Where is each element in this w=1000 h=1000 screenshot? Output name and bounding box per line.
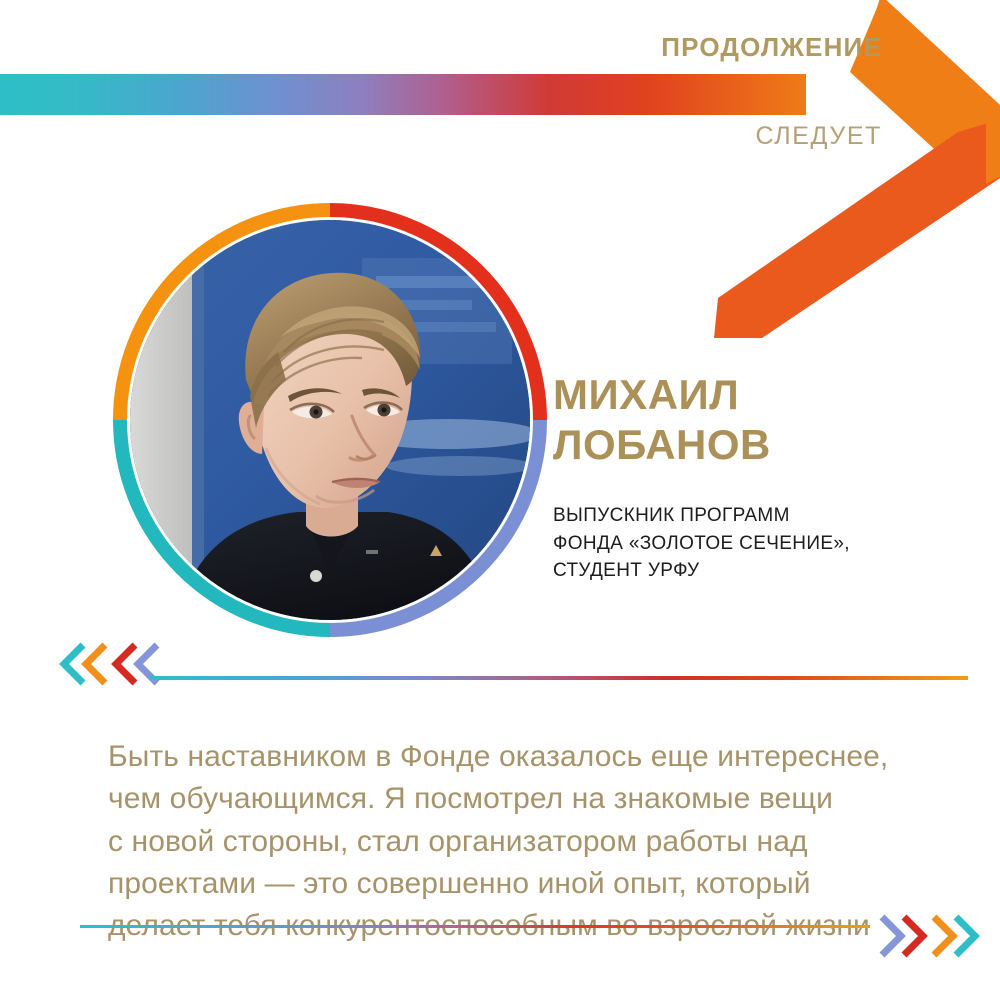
divider-top	[150, 676, 968, 680]
double-chevron-left-icon	[58, 641, 163, 687]
role-line-3: СТУДЕНТ УРФУ	[553, 557, 953, 585]
double-chevron-right-icon	[876, 913, 980, 959]
quote-line: чем обучающимся. Я посмотрел на знакомые…	[108, 778, 1000, 820]
role-line-1: ВЫПУСКНИК ПРОГРАММ	[553, 502, 953, 530]
quote-line: Быть наставником в Фонде оказалось еще и…	[108, 736, 1000, 778]
role-line-2: ФОНДА «ЗОЛОТОЕ СЕЧЕНИЕ»,	[553, 530, 953, 558]
quote-text: Быть наставником в Фонде оказалось еще и…	[108, 736, 1000, 947]
person-role: ВЫПУСКНИК ПРОГРАММ ФОНДА «ЗОЛОТОЕ СЕЧЕНИ…	[553, 502, 953, 585]
quote-line: проектами — это совершенно иной опыт, ко…	[108, 863, 1000, 905]
quote-line: с новой стороны, стал организатором рабо…	[108, 821, 1000, 863]
person-name: МИХАИЛ ЛОБАНОВ	[553, 370, 963, 469]
name-line-first: МИХАИЛ	[553, 370, 963, 420]
kicker-top: ПРОДОЛЖЕНИЕ	[661, 32, 882, 63]
promo-card: ПРОДОЛЖЕНИЕ СЛЕДУЕТ	[0, 0, 1000, 1000]
portrait	[113, 203, 547, 637]
gradient-bar	[0, 74, 806, 115]
kicker-bottom: СЛЕДУЕТ	[755, 122, 882, 151]
portrait-photo	[130, 220, 530, 620]
name-line-last: ЛОБАНОВ	[553, 420, 963, 470]
divider-bottom	[80, 925, 870, 928]
